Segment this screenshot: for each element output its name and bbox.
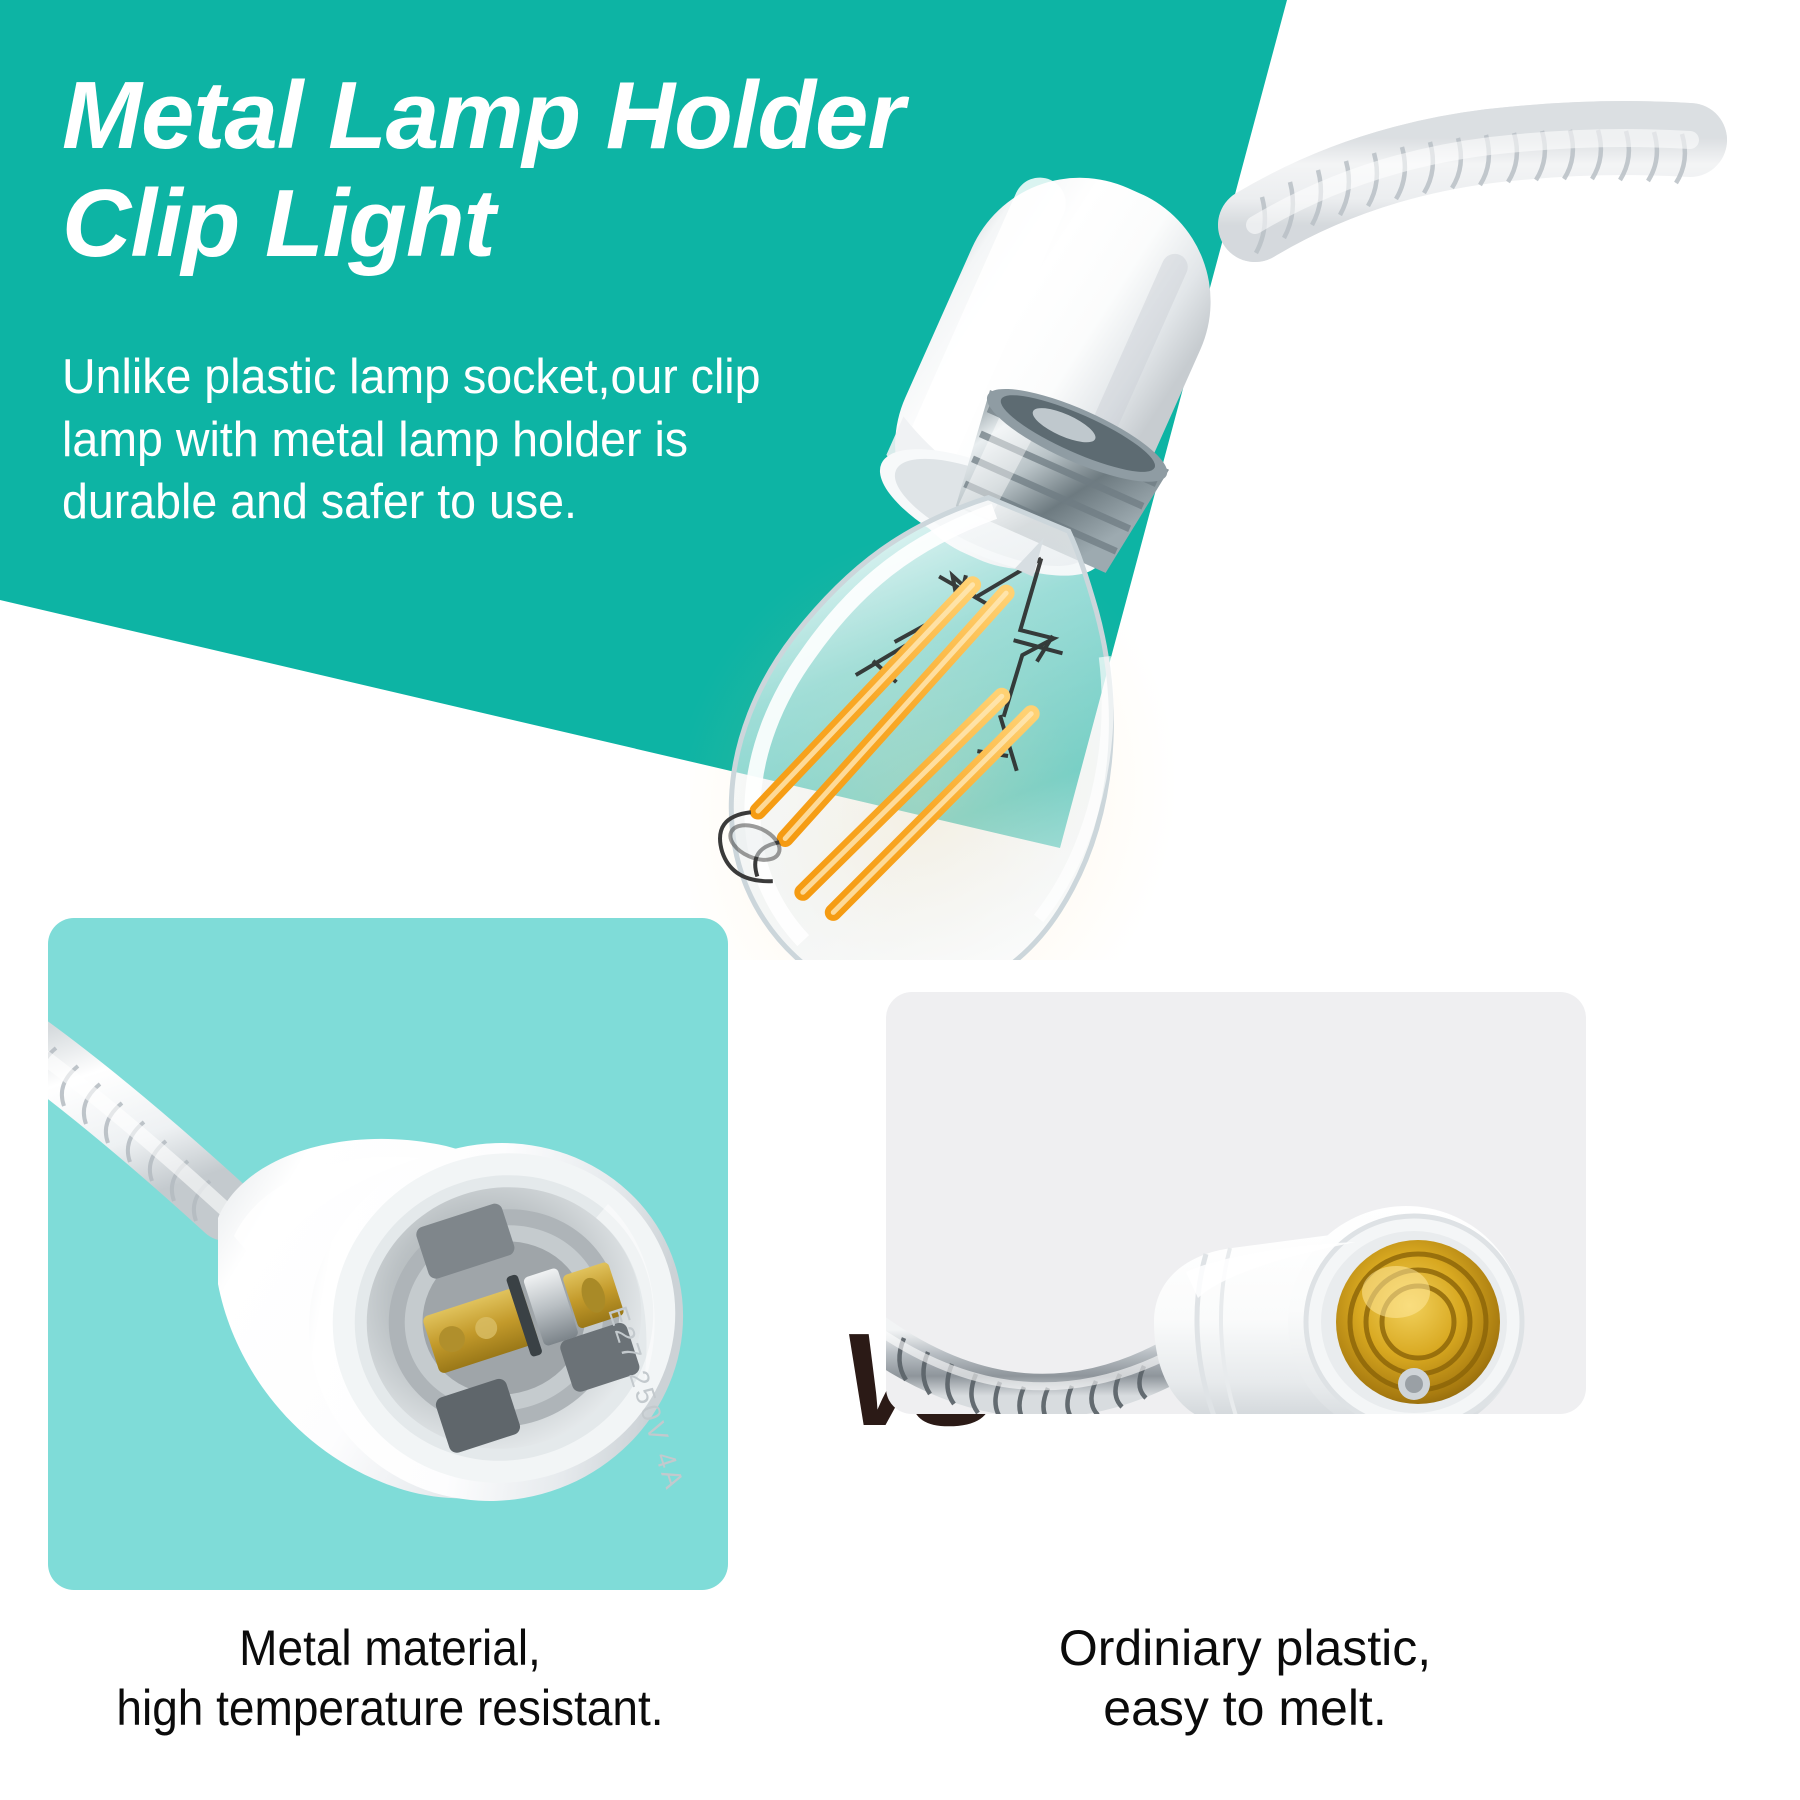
gooseneck-icon — [48, 1030, 226, 1221]
filament-bulb — [690, 421, 1277, 960]
lamp-socket-body: E27 250V 4A — [218, 1095, 728, 1550]
metal-socket-photo-panel: E27 250V 4A — [48, 918, 728, 1590]
gooseneck-icon — [886, 1322, 1166, 1414]
caption-plastic: Ordiniary plastic, easy to melt. — [900, 1618, 1590, 1738]
gooseneck-icon — [1255, 130, 1690, 253]
caption-metal-line-2: high temperature resistant. — [68, 1678, 712, 1738]
plastic-socket-body — [1154, 1206, 1524, 1414]
infographic-canvas: Metal Lamp Holder Clip Light Unlike plas… — [0, 0, 1800, 1800]
caption-plastic-line-2: easy to melt. — [900, 1678, 1590, 1738]
plastic-socket-svg — [886, 992, 1586, 1414]
caption-metal-line-1: Metal material, — [68, 1618, 712, 1678]
caption-plastic-line-1: Ordiniary plastic, — [900, 1618, 1590, 1678]
metal-socket-svg: E27 250V 4A — [48, 918, 728, 1590]
hero-lamp-svg — [690, 60, 1750, 960]
caption-metal: Metal material, high temperature resista… — [68, 1618, 712, 1738]
plastic-socket-photo-panel — [886, 992, 1586, 1414]
hero-lamp-illustration — [690, 60, 1750, 960]
